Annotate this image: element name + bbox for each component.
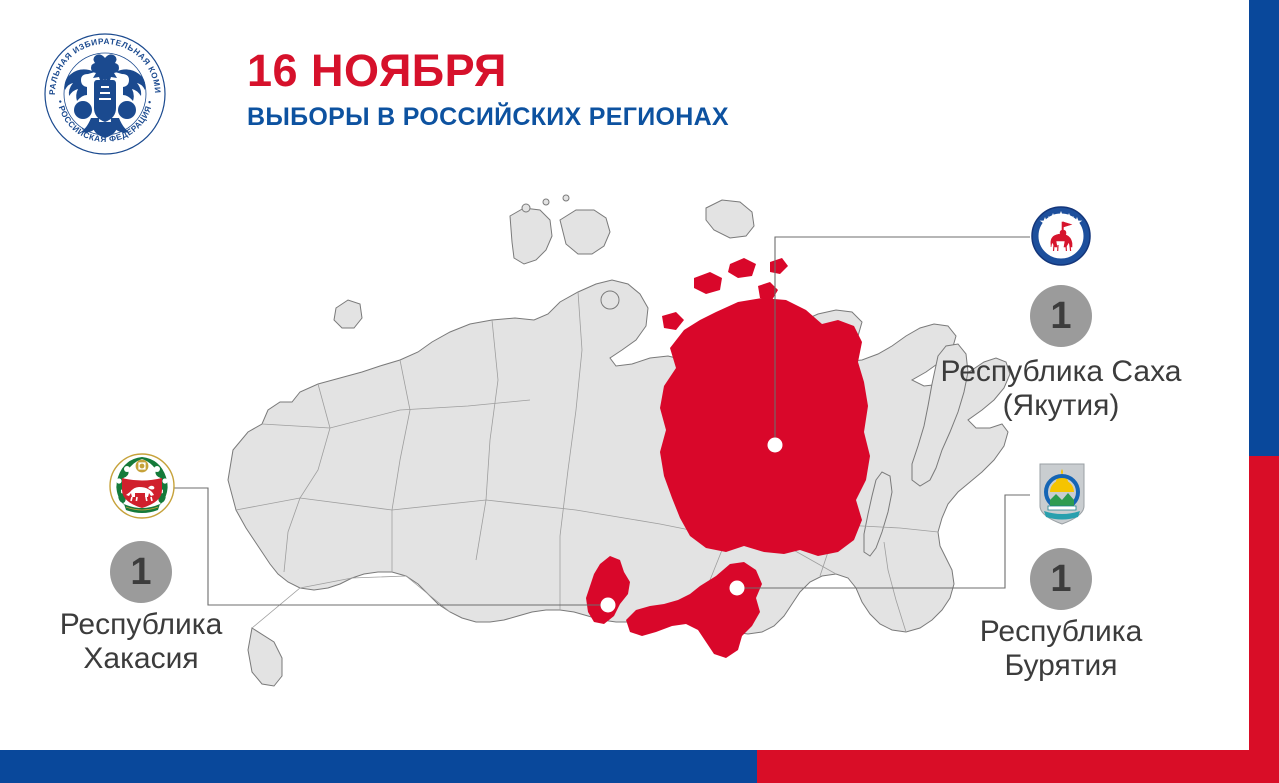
count-badge-buryatia: 1: [1030, 548, 1092, 610]
count-badge-khakassia: 1: [110, 541, 172, 603]
region-highlight-sakha: [660, 258, 870, 556]
header-text-block: 16 НОЯБРЯ ВЫБОРЫ В РОССИЙСКИХ РЕГИОНАХ: [247, 48, 729, 130]
page-subtitle: ВЫБОРЫ В РОССИЙСКИХ РЕГИОНАХ: [247, 105, 729, 130]
bottom-accent-bar-red: [757, 750, 1279, 783]
count-badge-sakha: 1: [1030, 285, 1092, 347]
region-label-sakha: Республика Саха (Якутия): [920, 355, 1202, 422]
bottom-accent-bar-blue: [0, 750, 757, 783]
khakassia-coat-of-arms-icon: [108, 452, 176, 520]
page-title: 16 НОЯБРЯ: [247, 48, 729, 93]
map-base-landmass: [228, 195, 1010, 686]
region-label-buryatia: Республика Бурятия: [920, 615, 1202, 682]
map-dot-sakha: [768, 438, 783, 453]
map-dot-buryatia: [730, 581, 745, 596]
map-dot-khakassia: [601, 598, 616, 613]
cec-emblem-icon: ЦЕНТРАЛЬНАЯ ИЗБИРАТЕЛЬНАЯ КОМИССИЯ • РОС…: [35, 22, 175, 162]
infographic-canvas: ЦЕНТРАЛЬНАЯ ИЗБИРАТЕЛЬНАЯ КОМИССИЯ • РОС…: [0, 0, 1279, 783]
sakha-yakutia-coat-of-arms-icon: [1030, 205, 1092, 267]
buryatia-coat-of-arms-icon: [1036, 462, 1088, 528]
region-label-khakassia: Республика Хакасия: [0, 608, 282, 675]
